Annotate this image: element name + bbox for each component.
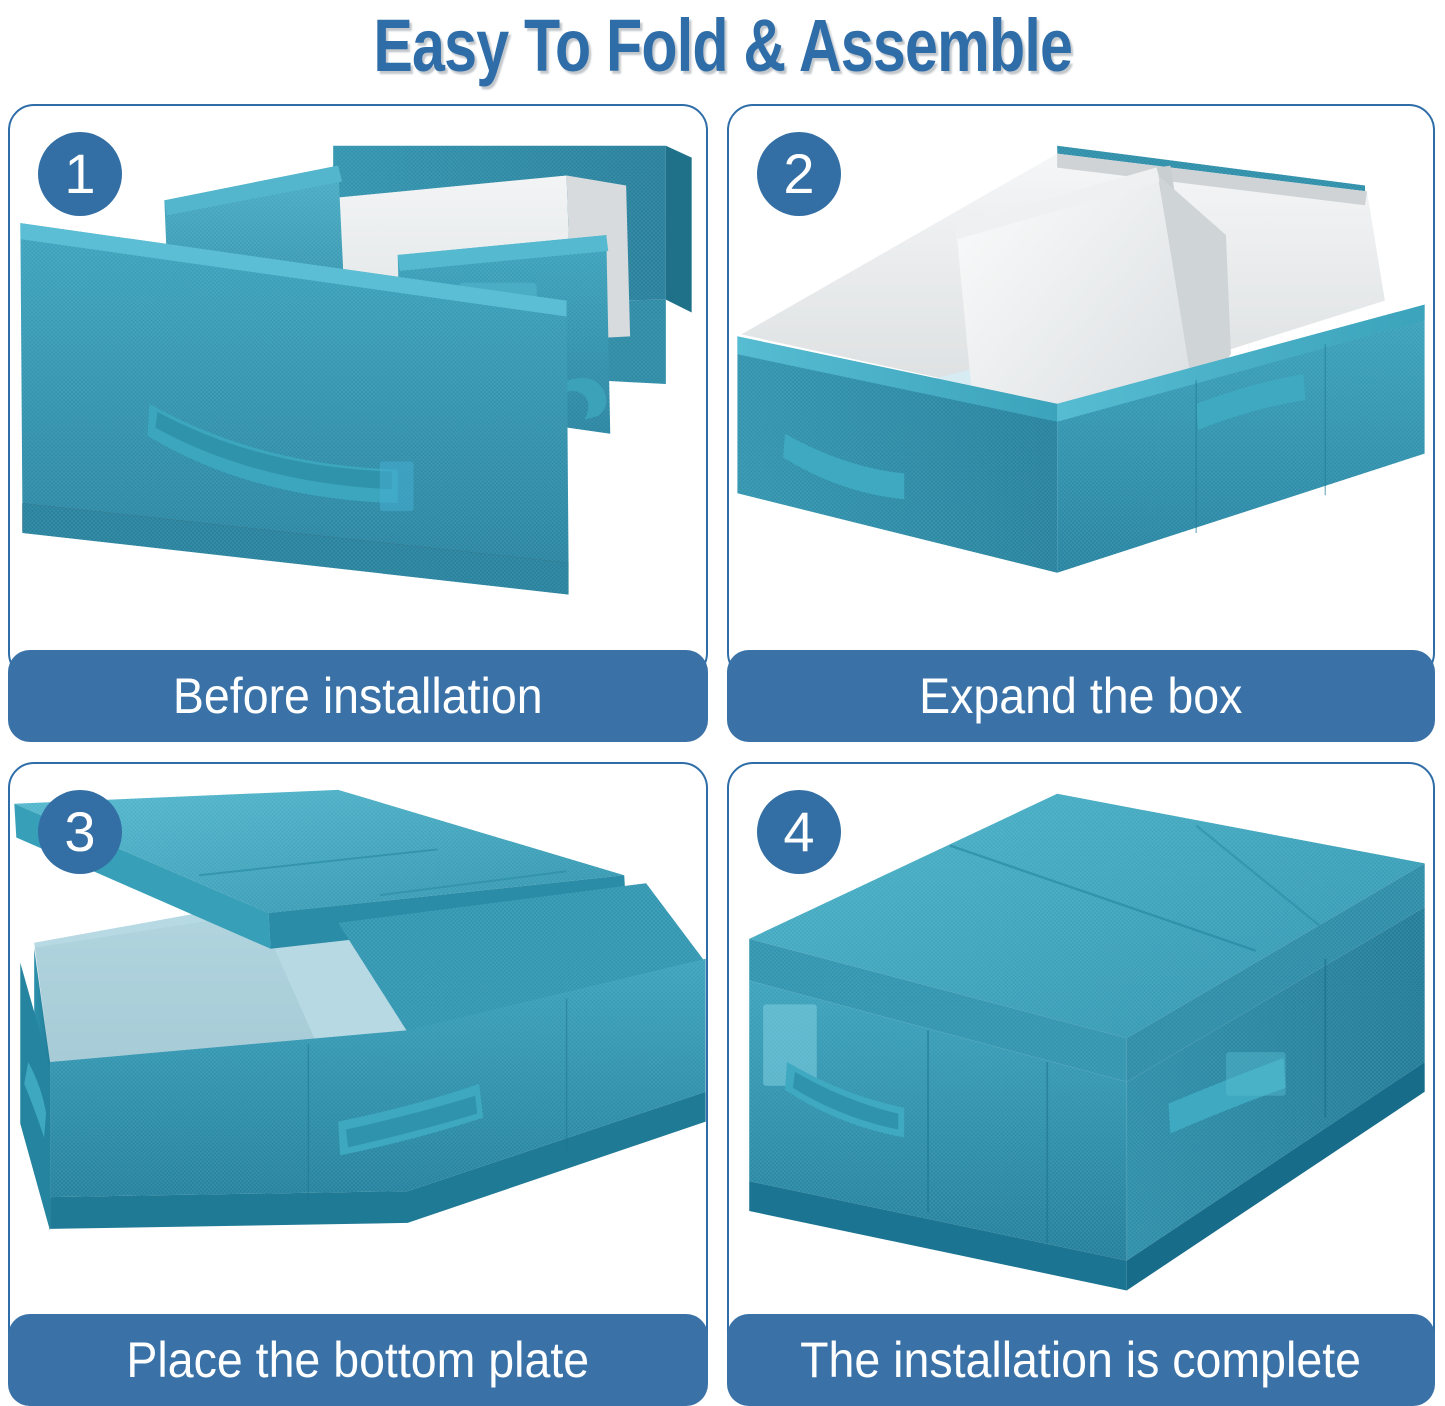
step-2-caption-text: Expand the box bbox=[919, 671, 1242, 721]
step-panel-2: 2 bbox=[727, 104, 1435, 679]
step-4-caption: The installation is complete bbox=[727, 1314, 1435, 1406]
step-panel-4: 4 bbox=[727, 762, 1435, 1362]
step-2-caption: Expand the box bbox=[727, 650, 1435, 742]
page-title: Easy To Fold & Assemble bbox=[373, 9, 1072, 83]
step-4-badge: 4 bbox=[757, 790, 841, 874]
step-3-badge: 3 bbox=[38, 790, 122, 874]
page-title-bar: Easy To Fold & Assemble bbox=[0, 0, 1445, 92]
step-panel-3: 3 bbox=[8, 762, 708, 1362]
step-1-caption-text: Before installation bbox=[173, 671, 543, 721]
step-2-badge: 2 bbox=[757, 132, 841, 216]
step-panel-1: 1 bbox=[8, 104, 708, 679]
step-3-caption: Place the bottom plate bbox=[8, 1314, 708, 1406]
step-1-badge: 1 bbox=[38, 132, 122, 216]
step-4-caption-text: The installation is complete bbox=[801, 1335, 1362, 1385]
step-3-caption-text: Place the bottom plate bbox=[127, 1335, 590, 1385]
step-1-caption: Before installation bbox=[8, 650, 708, 742]
